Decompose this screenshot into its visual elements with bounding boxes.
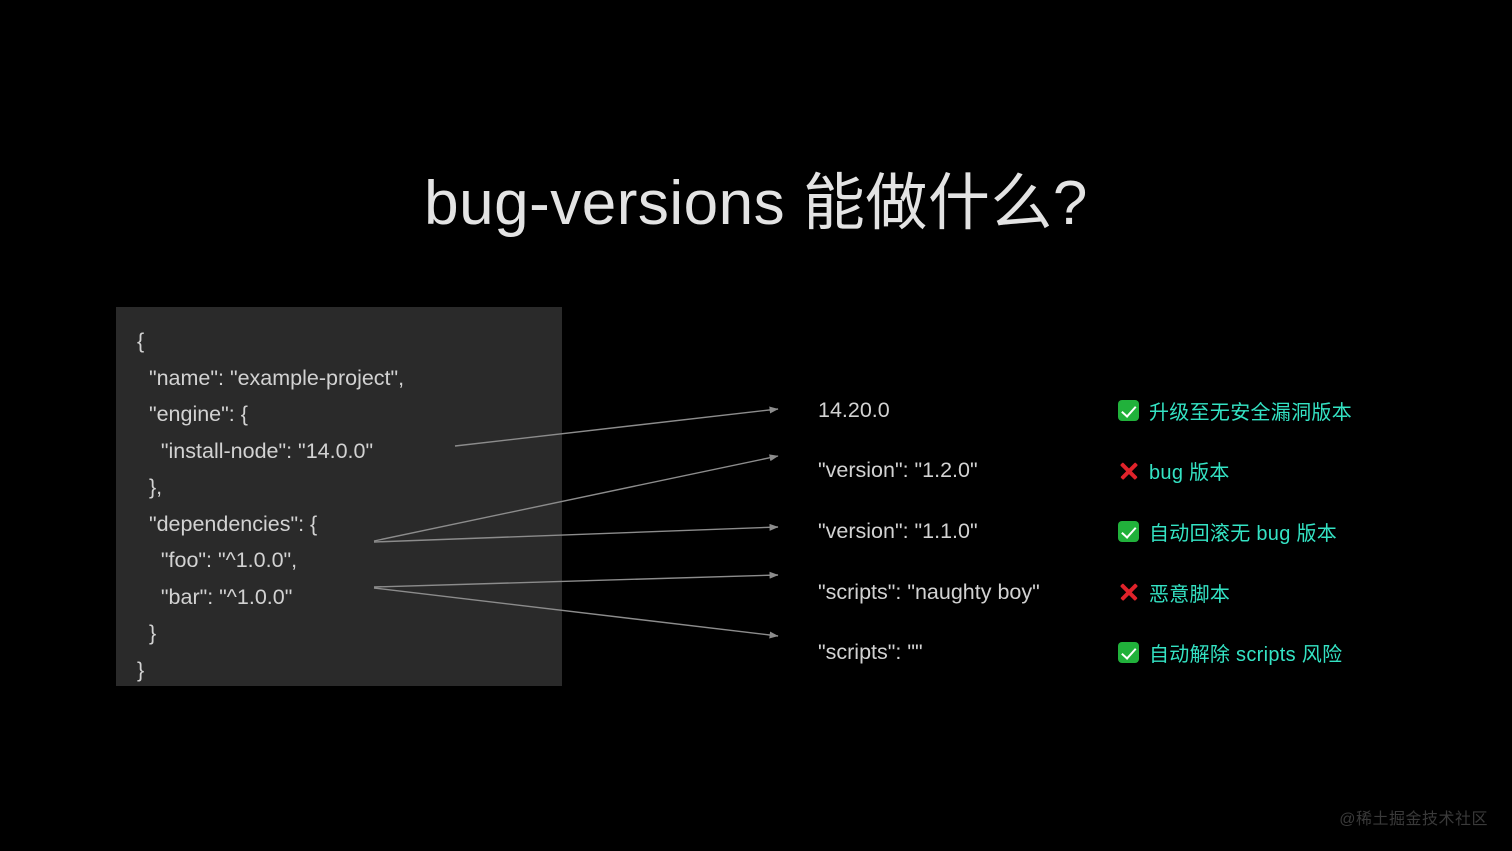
check-mark-button-icon	[1118, 400, 1139, 421]
code-line: }	[116, 652, 562, 689]
cross-mark-icon	[1118, 460, 1139, 481]
result-note-label: 升级至无安全漏洞版本	[1149, 396, 1352, 425]
page-title: bug-versions 能做什么?	[0, 152, 1512, 242]
code-panel: { "name": "example-project", "engine": {…	[116, 307, 562, 686]
result-note: 恶意脚本	[1118, 578, 1230, 607]
result-note-label: 自动回滚无 bug 版本	[1149, 517, 1337, 546]
check-mark-button-icon	[1118, 521, 1139, 542]
watermark: @稀土掘金技术社区	[1339, 805, 1488, 829]
result-note-label: 自动解除 scripts 风险	[1149, 638, 1342, 667]
code-line: "engine": {	[116, 396, 562, 433]
result-row: "version": "1.2.0" bug 版本	[818, 441, 1438, 502]
code-line: {	[116, 323, 562, 360]
result-value: 14.20.0	[818, 398, 1118, 423]
code-line: "name": "example-project",	[116, 360, 562, 397]
result-note: 升级至无安全漏洞版本	[1118, 396, 1352, 425]
result-value: "scripts": "naughty boy"	[818, 580, 1118, 605]
result-note: 自动解除 scripts 风险	[1118, 638, 1342, 667]
result-row: 14.20.0 升级至无安全漏洞版本	[818, 380, 1438, 441]
result-row: "scripts": "" 自动解除 scripts 风险	[818, 622, 1438, 683]
check-mark-button-icon	[1118, 642, 1139, 663]
result-note: 自动回滚无 bug 版本	[1118, 517, 1337, 546]
result-row: "version": "1.1.0" 自动回滚无 bug 版本	[818, 501, 1438, 562]
cross-mark-icon	[1118, 582, 1139, 603]
slide-root: bug-versions 能做什么? { "name": "example-pr…	[0, 0, 1512, 851]
code-line: },	[116, 469, 562, 506]
code-line: "install-node": "14.0.0"	[116, 433, 562, 470]
code-line: "bar": "^1.0.0"	[116, 579, 562, 616]
code-line: }	[116, 615, 562, 652]
results-list: 14.20.0 升级至无安全漏洞版本 "version": "1.2.0" bu…	[818, 380, 1438, 683]
result-value: "version": "1.1.0"	[818, 519, 1118, 544]
code-line: "foo": "^1.0.0",	[116, 542, 562, 579]
result-note-label: 恶意脚本	[1149, 578, 1230, 607]
result-row: "scripts": "naughty boy" 恶意脚本	[818, 562, 1438, 623]
result-note-label: bug 版本	[1149, 456, 1230, 485]
result-value: "version": "1.2.0"	[818, 458, 1118, 483]
result-note: bug 版本	[1118, 456, 1230, 485]
result-value: "scripts": ""	[818, 640, 1118, 665]
code-line: "dependencies": {	[116, 506, 562, 543]
